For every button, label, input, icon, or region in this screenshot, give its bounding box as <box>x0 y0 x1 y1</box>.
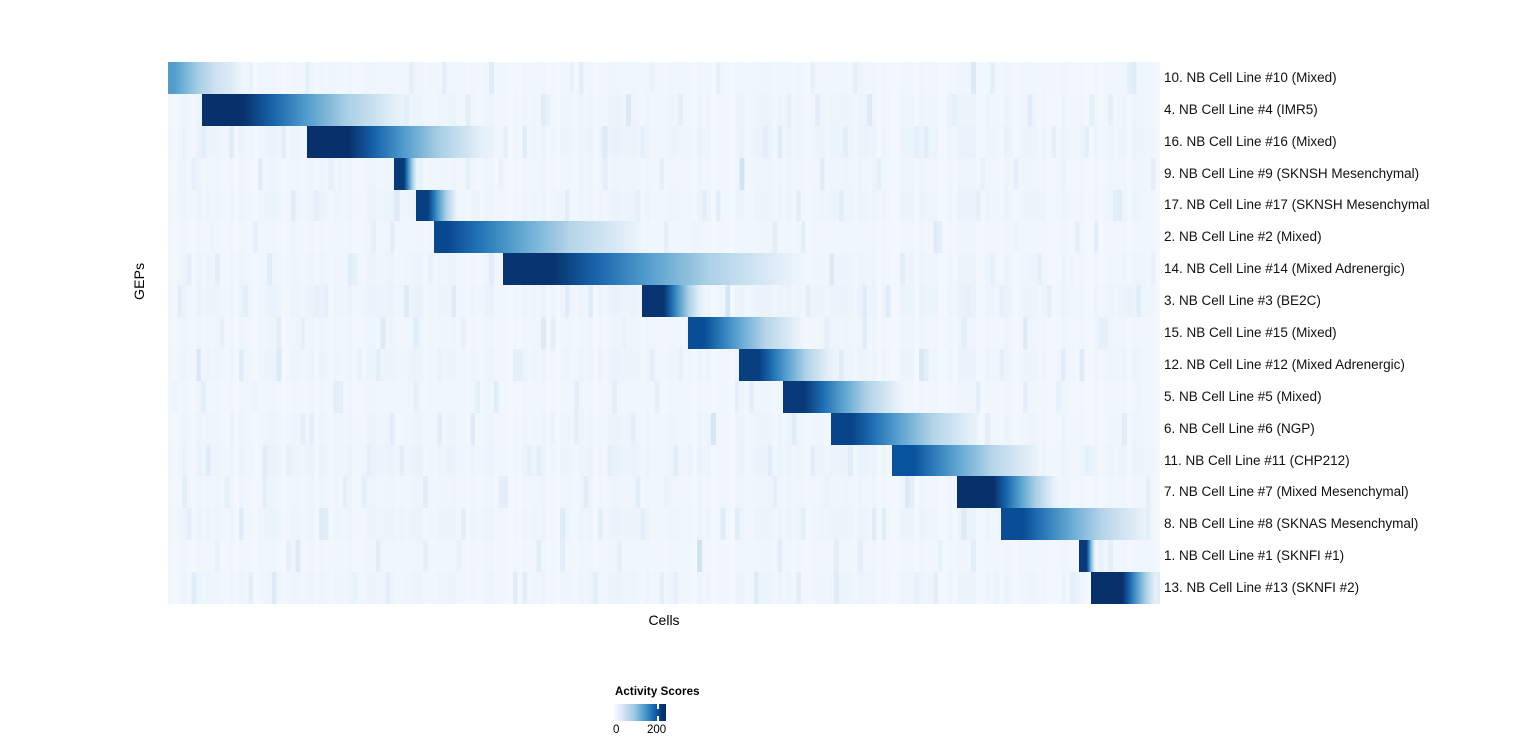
heatmap-row-noise <box>168 381 1160 413</box>
heatmap-activity-block <box>1079 540 1097 572</box>
row-label: 1. NB Cell Line #1 (SKNFI #1) <box>1164 548 1344 564</box>
heatmap-row <box>168 62 1160 94</box>
heatmap-activity-block <box>1091 572 1160 604</box>
heatmap-row <box>168 540 1160 572</box>
heatmap-activity-block <box>1001 508 1150 540</box>
heatmap-row <box>168 445 1160 477</box>
heatmap-activity-block <box>783 381 904 413</box>
heatmap-row-noise <box>168 190 1160 222</box>
heatmap-row <box>168 317 1160 349</box>
heatmap-row-noise <box>168 540 1160 572</box>
heatmap-activity-block <box>739 349 834 381</box>
heatmap-row <box>168 126 1160 158</box>
heatmap-activity-block <box>416 190 458 222</box>
heatmap-row-noise <box>168 221 1160 253</box>
heatmap-plot-area <box>168 62 1160 604</box>
row-label-list: 10. NB Cell Line #10 (Mixed)4. NB Cell L… <box>1164 62 1540 604</box>
heatmap-row <box>168 221 1160 253</box>
heatmap-row <box>168 349 1160 381</box>
row-label: 4. NB Cell Line #4 (IMR5) <box>1164 102 1318 118</box>
heatmap-row-noise <box>168 572 1160 604</box>
row-label: 10. NB Cell Line #10 (Mixed) <box>1164 70 1337 86</box>
heatmap-activity-block <box>892 445 1041 477</box>
heatmap-row-noise <box>168 62 1160 94</box>
row-label: 2. NB Cell Line #2 (Mixed) <box>1164 229 1322 245</box>
heatmap-row-noise <box>168 349 1160 381</box>
y-axis-label: GEPs <box>131 263 147 300</box>
colorbar-max-label: 200 <box>647 724 666 736</box>
row-label: 13. NB Cell Line #13 (SKNFI #2) <box>1164 580 1359 596</box>
row-label: 7. NB Cell Line #7 (Mixed Mesenchymal) <box>1164 484 1409 500</box>
heatmap-row <box>168 381 1160 413</box>
heatmap-row <box>168 158 1160 190</box>
heatmap-activity-block <box>434 221 644 253</box>
heatmap-activity-block <box>394 158 418 190</box>
heatmap-row <box>168 94 1160 126</box>
heatmap-row-noise <box>168 317 1160 349</box>
heatmap-activity-block <box>957 476 1061 508</box>
heatmap-activity-block <box>202 94 411 126</box>
colorbar-tick-bottom <box>657 716 659 721</box>
heatmap-row <box>168 253 1160 285</box>
legend-title: Activity Scores <box>615 686 700 698</box>
row-label: 16. NB Cell Line #16 (Mixed) <box>1164 134 1337 150</box>
heatmap-row <box>168 190 1160 222</box>
heatmap-row <box>168 413 1160 445</box>
heatmap-activity-block <box>642 285 704 317</box>
heatmap-row-noise <box>168 158 1160 190</box>
row-label: 6. NB Cell Line #6 (NGP) <box>1164 421 1315 437</box>
heatmap-row-noise <box>168 413 1160 445</box>
heatmap-row <box>168 572 1160 604</box>
row-label: 17. NB Cell Line #17 (SKNSH Mesenchymal <box>1164 197 1430 213</box>
heatmap-row <box>168 508 1160 540</box>
colorbar-tick-top <box>657 704 659 709</box>
row-label: 12. NB Cell Line #12 (Mixed Adrenergic) <box>1164 357 1405 373</box>
row-label: 9. NB Cell Line #9 (SKNSH Mesenchymal) <box>1164 166 1419 182</box>
colorbar-legend: Activity Scores 0 200 <box>613 686 813 743</box>
row-label: 8. NB Cell Line #8 (SKNAS Mesenchymal) <box>1164 516 1418 532</box>
row-label: 3. NB Cell Line #3 (BE2C) <box>1164 293 1321 309</box>
colorbar-gradient <box>613 704 666 721</box>
heatmap-activity-block <box>503 253 803 285</box>
heatmap-row <box>168 285 1160 317</box>
heatmap-figure: GEPs Cells 10. NB Cell Line #10 (Mixed)4… <box>0 0 1540 743</box>
heatmap-activity-block <box>831 413 982 445</box>
heatmap-activity-block <box>307 126 495 158</box>
x-axis-label: Cells <box>168 612 1160 628</box>
row-label: 15. NB Cell Line #15 (Mixed) <box>1164 325 1337 341</box>
colorbar-min-label: 0 <box>613 724 619 736</box>
row-label: 11. NB Cell Line #11 (CHP212) <box>1164 453 1350 469</box>
heatmap-row <box>168 476 1160 508</box>
heatmap-activity-block <box>168 62 242 94</box>
heatmap-activity-block <box>688 317 803 349</box>
row-label: 5. NB Cell Line #5 (Mixed) <box>1164 389 1322 405</box>
row-label: 14. NB Cell Line #14 (Mixed Adrenergic) <box>1164 261 1405 277</box>
